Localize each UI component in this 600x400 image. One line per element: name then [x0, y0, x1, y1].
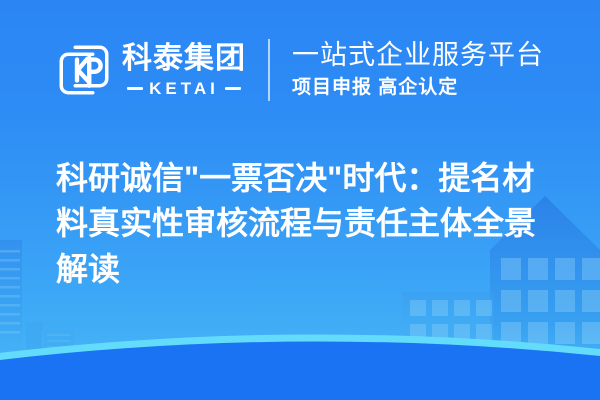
dash-icon — [225, 87, 241, 90]
curved-wave-icon — [0, 338, 600, 400]
page-title: 科研诚信"一票否决"时代：提名材料真实性审核流程与责任主体全景解读 — [56, 156, 556, 292]
slogan-block: 一站式企业服务平台 项目申报 高企认定 — [270, 40, 544, 101]
promo-banner: 科泰集团 KETAI 一站式企业服务平台 项目申报 高企认定 科研诚信"一票否决… — [0, 0, 600, 400]
low-buildings-icon — [26, 322, 74, 362]
company-name-cn: 科泰集团 — [122, 44, 246, 74]
tower-building-icon — [0, 240, 22, 360]
brand-logo[interactable]: 科泰集团 KETAI — [56, 42, 268, 98]
slogan-sub: 项目申报 高企认定 — [292, 76, 544, 101]
ketai-diamond-kp-logo-icon — [56, 42, 112, 98]
company-name-en: KETAI — [149, 80, 219, 97]
wide-building-icon — [402, 292, 494, 364]
banner-header: 科泰集团 KETAI 一站式企业服务平台 项目申报 高企认定 — [0, 0, 600, 140]
dash-icon — [127, 87, 143, 90]
slogan-main: 一站式企业服务平台 — [292, 40, 544, 71]
